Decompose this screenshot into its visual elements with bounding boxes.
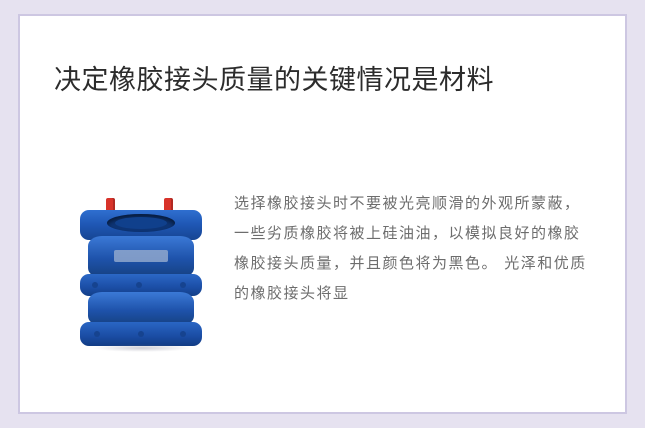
figure-shadow <box>92 344 192 352</box>
product-label-plate <box>114 250 168 262</box>
article-content: 选择橡胶接头时不要被光亮顺滑的外观所蒙蔽，一些劣质橡胶将被上硅油油，以模拟良好的… <box>54 176 605 392</box>
page-title: 决定橡胶接头质量的关键情况是材料 <box>54 60 574 101</box>
bore-inner <box>115 217 167 229</box>
bottom-flange <box>80 322 202 346</box>
stud-icon <box>136 282 142 288</box>
article-card: 决定橡胶接头质量的关键情况是材料 <box>18 14 627 414</box>
stud-icon <box>180 282 186 288</box>
stud-icon <box>94 331 100 337</box>
stud-icon <box>92 282 98 288</box>
stud-icon <box>138 331 144 337</box>
lower-bellow <box>88 292 194 326</box>
rubber-joint-illustration <box>80 198 202 348</box>
product-figure <box>54 176 234 376</box>
stud-icon <box>180 331 186 337</box>
article-body: 选择橡胶接头时不要被光亮顺滑的外观所蒙蔽，一些劣质橡胶将被上硅油油，以模拟良好的… <box>234 176 605 308</box>
